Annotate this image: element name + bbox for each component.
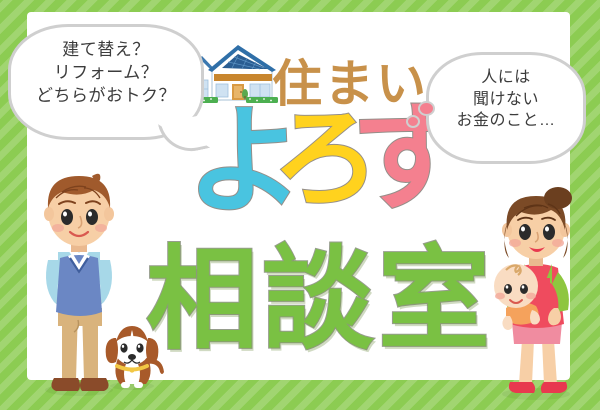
bubble-right-tail-dot-small <box>406 115 420 128</box>
bubble-right-line-2: 聞けない <box>429 89 583 111</box>
question-bubble-right: 人には 聞けない お金のこと… <box>426 52 586 164</box>
woman-with-baby-character <box>476 190 594 410</box>
bubble-right-tail-dot-large <box>418 101 435 116</box>
dog-character <box>96 308 168 392</box>
bubble-left-line-2: リフォーム？ <box>11 62 201 85</box>
bubble-left-line-3: どちらがおトク？ <box>11 85 201 108</box>
bubble-right-line-1: 人には <box>429 67 583 89</box>
bubble-right-line-3: お金のこと… <box>429 110 583 132</box>
title-main-text: 相談室 <box>146 244 494 356</box>
banner-root: 住まいの よ ろ ず 相談室 建て替え？ リフォーム？ どちらがおトク？ 人には… <box>0 0 600 410</box>
bubble-left-line-1: 建て替え？ <box>11 39 201 62</box>
question-bubble-left: 建て替え？ リフォーム？ どちらがおトク？ <box>8 24 204 140</box>
title-kana-group: よ ろ ず <box>186 108 436 228</box>
